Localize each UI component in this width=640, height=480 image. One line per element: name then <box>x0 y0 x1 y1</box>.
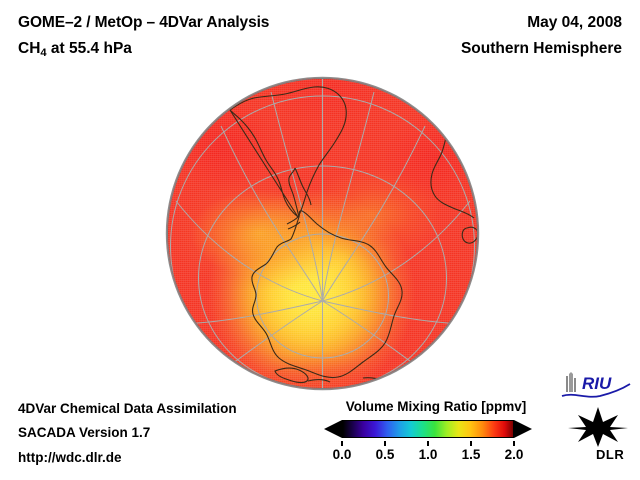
riu-tower-icon <box>566 372 576 392</box>
colorbar-tick-labels: 0.00.51.01.52.0 <box>316 447 540 467</box>
colorbar-tick <box>384 441 386 446</box>
colorbar-tick-label: 0.0 <box>333 447 352 462</box>
colorbar-gradient <box>342 420 514 438</box>
instrument-title: GOME–2 / MetOp – 4DVar Analysis <box>18 14 269 32</box>
polar-projection-map <box>167 78 478 389</box>
footer-line-assimilation: 4DVar Chemical Data Assimilation <box>18 401 237 416</box>
colorbar-tick <box>513 441 515 446</box>
dlr-star-icon <box>568 407 628 447</box>
colorbar-tick-label: 1.5 <box>462 447 481 462</box>
species-level-label: CH4 at 55.4 hPa <box>18 40 132 59</box>
footer-line-version: SACADA Version 1.7 <box>18 425 150 440</box>
colorbar-tick <box>341 441 343 446</box>
globe-outline <box>167 78 478 389</box>
date-label: May 04, 2008 <box>527 14 622 32</box>
riu-wordmark: RIU <box>582 374 612 393</box>
colorbar-under-arrow <box>324 420 342 438</box>
colorbar-tick-label: 1.0 <box>419 447 438 462</box>
colorbar-tick-label: 2.0 <box>505 447 524 462</box>
colorbar-title: Volume Mixing Ratio [ppmv] <box>330 399 542 414</box>
species-prefix: CH <box>18 40 40 57</box>
footer-line-url[interactable]: http://wdc.dlr.de <box>18 450 122 465</box>
hemisphere-label: Southern Hemisphere <box>461 40 622 58</box>
dlr-star-logo <box>566 406 630 448</box>
colorbar-tick <box>470 441 472 446</box>
colorbar-over-arrow <box>514 420 532 438</box>
figure-canvas: GOME–2 / MetOp – 4DVar Analysis CH4 at 5… <box>0 0 640 480</box>
colorbar <box>316 419 540 441</box>
colorbar-tick <box>427 441 429 446</box>
riu-logo: RIU <box>560 372 632 402</box>
colorbar-tick-label: 0.5 <box>376 447 395 462</box>
dlr-wordmark: DLR <box>596 447 624 462</box>
species-suffix: at 55.4 hPa <box>47 40 132 57</box>
